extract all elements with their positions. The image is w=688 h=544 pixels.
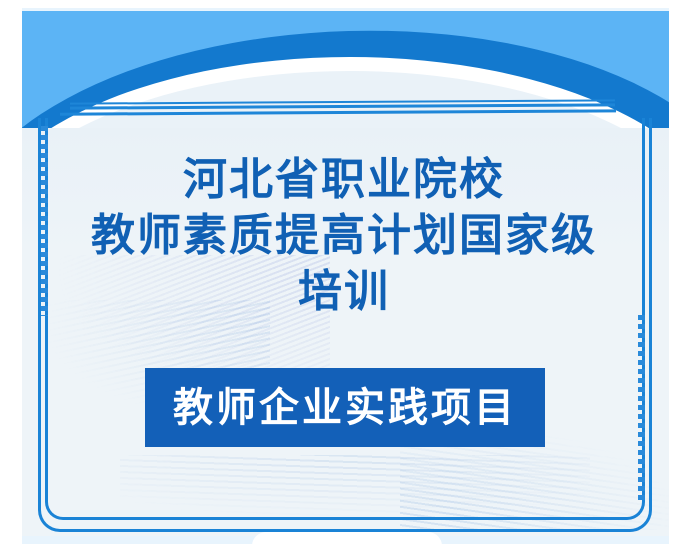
- header-rule-pair: [70, 99, 615, 118]
- poster-title-line-2: 教师素质提高计划国家级: [45, 208, 643, 264]
- page-margin-top: [0, 0, 688, 8]
- poster-title: 河北省职业院校 教师素质提高计划国家级 培训: [45, 152, 643, 320]
- header-rule-3: [60, 109, 616, 115]
- subtitle-badge: 教师企业实践项目: [145, 368, 545, 447]
- page-margin-right: [669, 0, 688, 544]
- poster-title-line-1: 河北省职业院校: [45, 152, 643, 208]
- page-margin-left: [0, 0, 22, 544]
- poster-title-line-3: 培训: [45, 264, 643, 320]
- subtitle-badge-label: 教师企业实践项目: [173, 388, 517, 428]
- bottom-notch: [252, 532, 442, 544]
- header-sky-band: [22, 11, 669, 143]
- poster-banner: 河北省职业院校 教师素质提高计划国家级 培训 教师企业实践项目: [0, 0, 688, 544]
- header-rule-2: [70, 103, 615, 109]
